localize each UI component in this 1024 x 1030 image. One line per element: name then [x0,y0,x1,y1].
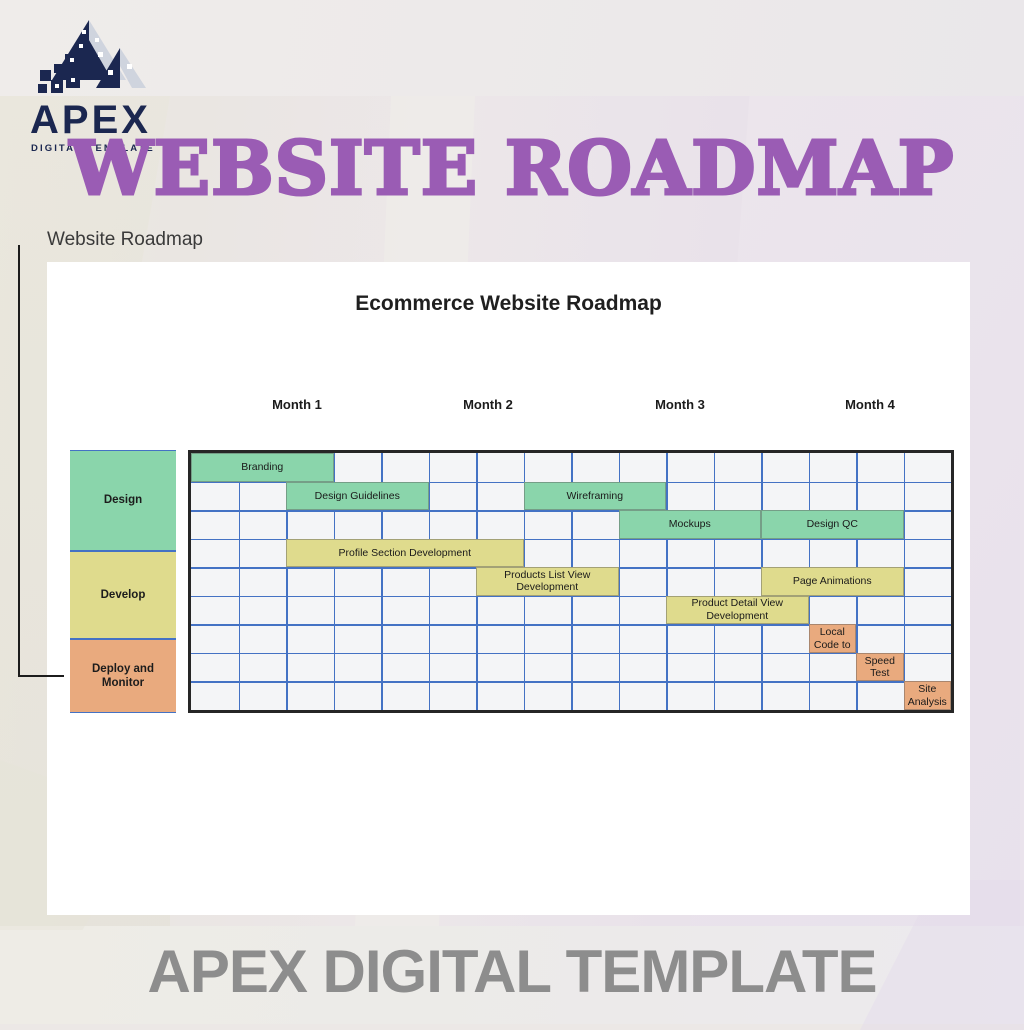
chart-title: Ecommerce Website Roadmap [47,292,970,316]
gantt-task-bar[interactable]: Branding [191,453,334,482]
footer-watermark: APEX DIGITAL TEMPLATE [0,942,1024,1002]
month-label-1: Month 1 [237,397,357,412]
gantt-task-bar[interactable]: Site Analysis [904,681,952,710]
phase-block-design[interactable]: Design [70,450,176,551]
gantt-task-bar[interactable]: Mockups [619,510,762,539]
gantt-task-bar[interactable]: Page Animations [761,567,904,596]
section-label: Website Roadmap [47,229,203,251]
gantt-chart: BrandingDesign GuidelinesWireframingMock… [188,450,954,713]
month-label-4: Month 4 [810,397,930,412]
apex-mountain-building-logo-icon [34,18,154,96]
gantt-task-bar[interactable]: Design QC [761,510,904,539]
gantt-task-bar[interactable]: Profile Section Development [286,539,524,568]
gantt-task-bar[interactable]: Speed Test [856,653,904,682]
phase-block-develop[interactable]: Develop [70,551,176,639]
gantt-task-bar[interactable]: Design Guidelines [286,482,429,511]
bracket-horizontal-tick [18,675,64,677]
month-label-2: Month 2 [428,397,548,412]
gantt-task-bar[interactable]: Push Local Code to Cloud [809,624,857,653]
month-label-3: Month 3 [620,397,740,412]
phase-legend-column: Design Develop Deploy and Monitor [70,450,176,713]
gantt-task-bar[interactable]: Product Detail View Development [666,596,809,625]
phase-block-deploy-and-monitor[interactable]: Deploy and Monitor [70,639,176,713]
bracket-vertical-line [18,245,20,677]
month-header-row: Month 1 Month 2 Month 3 Month 4 [188,397,955,419]
gantt-task-bar[interactable]: Products List View Development [476,567,619,596]
gantt-task-bar[interactable]: Wireframing [524,482,667,511]
gantt-task-bars: BrandingDesign GuidelinesWireframingMock… [191,453,951,710]
page-headline: WEBSITE ROADMAP [0,132,1024,206]
roadmap-card: Ecommerce Website Roadmap Month 1 Month … [47,262,970,915]
